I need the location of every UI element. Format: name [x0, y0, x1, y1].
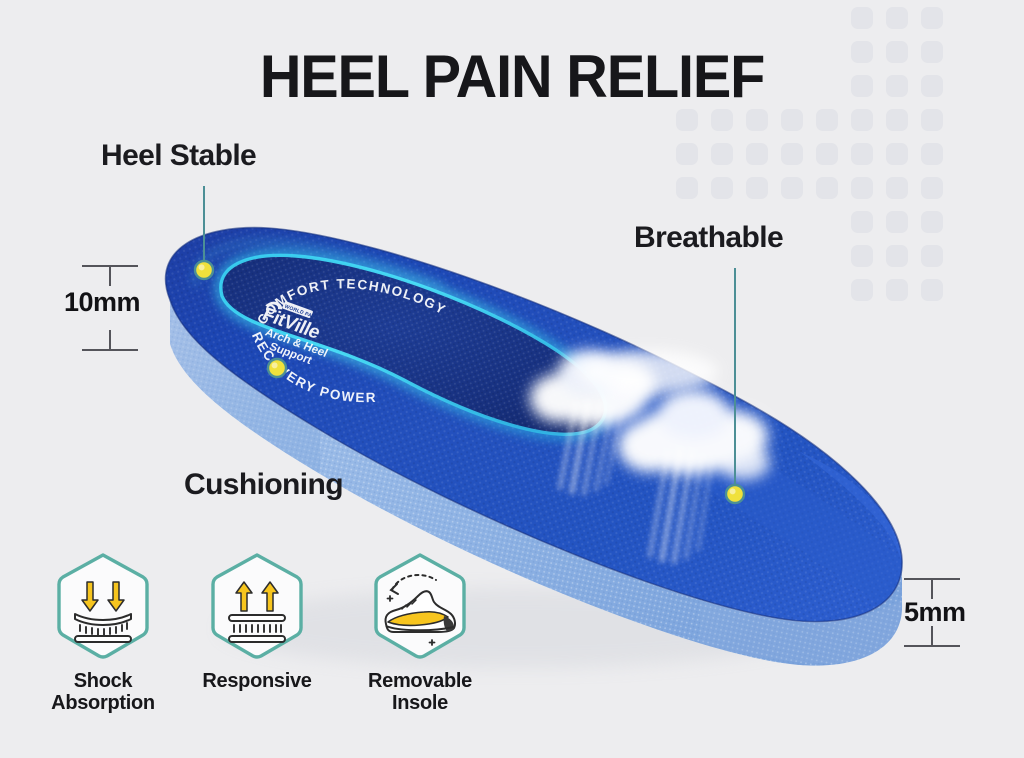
feature-label-removable-insole: Removable Insole	[335, 670, 505, 715]
callout-label-breathable: Breathable	[634, 221, 783, 255]
removable-insole-icon	[368, 552, 472, 660]
feature-label-shock-absorption: Shock Absorption	[18, 670, 188, 715]
shock-absorption-icon	[51, 552, 155, 660]
callout-label-cushioning: Cushioning	[184, 468, 343, 502]
callout-label-heel-stable: Heel Stable	[101, 139, 256, 173]
infographic-canvas: HEEL PAIN RELIEF	[0, 0, 1024, 758]
feature-removable-insole: Removable Insole	[335, 552, 505, 715]
feature-label-responsive: Responsive	[172, 670, 342, 692]
feature-responsive: Responsive	[172, 552, 342, 692]
dimension-label-5mm: 5mm	[904, 597, 966, 628]
cushion-base-layer	[229, 636, 285, 642]
cushion-base-layer	[75, 636, 131, 642]
dimension-label-10mm: 10mm	[64, 287, 140, 318]
responsive-icon	[205, 552, 309, 660]
feature-shock-absorption: Shock Absorption	[18, 552, 188, 715]
cushion-top-layer	[229, 615, 285, 621]
